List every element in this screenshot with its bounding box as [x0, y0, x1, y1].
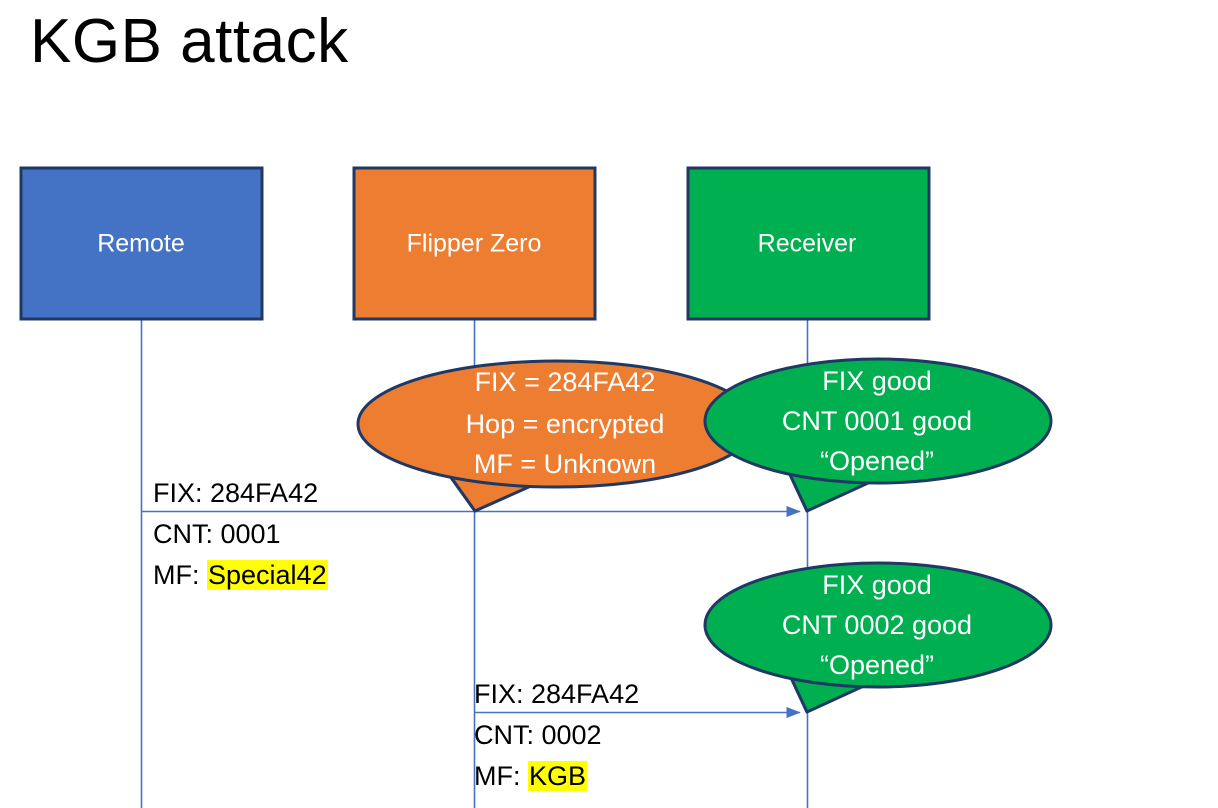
message-1-mf: MF: Special42 [153, 555, 328, 596]
callout-flipper-line-2: Hop = encrypted [466, 403, 665, 445]
callout-flipper-line-1: FIX = 284FA42 [475, 361, 656, 403]
message-2-cnt: CNT: 0002 [474, 715, 639, 756]
message-2-mf-prefix: MF: [474, 761, 528, 791]
text-layer: KGB attack Remote Flipper Zero Receiver … [0, 0, 1218, 808]
callout-receiver-1-line-3: “Opened” [820, 440, 934, 482]
callout-receiver-2-line-1: FIX good [822, 564, 932, 606]
callout-receiver-1-line-1: FIX good [822, 360, 932, 402]
message-2-mf-value: KGB [528, 761, 587, 791]
message-1-mf-value: Special42 [207, 560, 328, 590]
callout-receiver-1-line-2: CNT 0001 good [782, 400, 972, 442]
message-2-mf: MF: KGB [474, 756, 639, 797]
slide-canvas: KGB attack Remote Flipper Zero Receiver … [0, 0, 1218, 808]
message-1-fix: FIX: 284FA42 [153, 473, 328, 514]
callout-receiver-2-line-3: “Opened” [820, 644, 934, 686]
actor-label-flipper: Flipper Zero [407, 230, 542, 259]
message-2-label: FIX: 284FA42 CNT: 0002 MF: KGB [474, 674, 639, 797]
message-1-label: FIX: 284FA42 CNT: 0001 MF: Special42 [153, 473, 328, 596]
actor-label-remote: Remote [97, 230, 185, 259]
callout-flipper-line-3: MF = Unknown [474, 443, 656, 485]
callout-receiver-2-line-2: CNT 0002 good [782, 604, 972, 646]
message-2-fix: FIX: 284FA42 [474, 674, 639, 715]
actor-label-receiver: Receiver [758, 230, 857, 259]
message-1-cnt: CNT: 0001 [153, 514, 328, 555]
page-title: KGB attack [30, 6, 349, 77]
message-1-mf-prefix: MF: [153, 560, 207, 590]
